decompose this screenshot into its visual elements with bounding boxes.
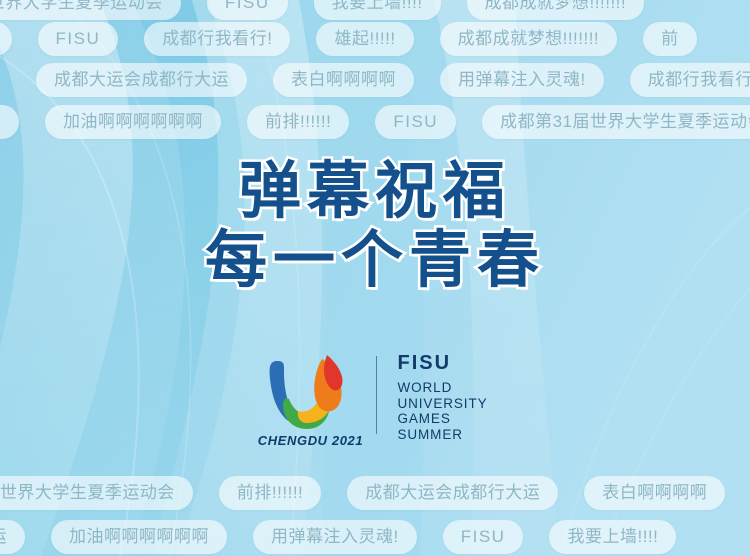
fisu-label: FISU (397, 352, 487, 376)
danmaku-pill[interactable]: 用弹幕注入灵魂! (253, 520, 417, 554)
danmaku-pill[interactable]: 成都行我看行! (144, 22, 290, 56)
danmaku-pill[interactable]: 我要上墙!!!! (549, 520, 676, 554)
fisu-line-games: GAMES (397, 411, 487, 427)
danmaku-pill[interactable]: FISU (38, 22, 119, 56)
danmaku-pill[interactable]: FISU (375, 105, 456, 139)
page-title-line-2: 每一个青春 (0, 229, 750, 292)
danmaku-pill[interactable]: 前排!!!!!! (219, 476, 321, 510)
danmaku-pill[interactable]: 成都第31届世界大学生夏季运动会 (0, 476, 193, 510)
danmaku-row: 成都第31届世界大学生夏季运动会FISU我要上墙!!!!成都成就梦想!!!!!!… (0, 0, 670, 20)
danmaku-row: 大运加油啊啊啊啊啊啊前排!!!!!!FISU成都第31届世界大学生夏季运动会 (0, 105, 750, 139)
fisu-line-world: WORLD (397, 380, 487, 396)
page-title: 弹幕祝福 每一个青春 (0, 160, 750, 292)
danmaku-pill[interactable]: 加油啊啊啊啊啊啊 (51, 520, 227, 554)
danmaku-pill[interactable]: FISU (207, 0, 288, 20)
page-title-line-1: 弹幕祝福 (239, 157, 511, 226)
fisu-line-summer: SUMMER (397, 427, 487, 443)
danmaku-bottom-layer: 成都第31届世界大学生夏季运动会前排!!!!!!成都大运会成都行大运表白啊啊啊啊… (0, 476, 750, 556)
fisu-wordmark: FISU WORLD UNIVERSITY GAMES SUMMER (397, 352, 487, 449)
danmaku-pill[interactable]: 成都大运会成都行大运 (347, 476, 558, 510)
danmaku-pill[interactable]: 表白啊啊啊啊 (273, 63, 414, 97)
event-logo: CHENGDU 2021 FISU WORLD UNIVERSITY GAMES… (0, 352, 750, 449)
danmaku-pill[interactable]: 成都大运会成都行大运 (36, 63, 247, 97)
danmaku-pill[interactable]: 成都第31届世界大学生夏季运动会 (482, 105, 750, 139)
danmaku-pill[interactable]: 成都第31届世界大学生夏季运动会 (0, 0, 181, 20)
danmaku-pill[interactable]: 雄起!!!!! (316, 22, 413, 56)
danmaku-row: 成都大运会成都行大运表白啊啊啊啊用弹幕注入灵魂!成都行我看行! (36, 63, 750, 97)
danmaku-pill[interactable]: 成都成就梦想!!!!!!! (467, 0, 645, 20)
danmaku-pill[interactable]: 加油啊啊啊啊啊啊 (45, 105, 221, 139)
danmaku-row: 夏季运动会FISU成都行我看行!雄起!!!!!成都成就梦想!!!!!!!前 (0, 22, 723, 56)
danmaku-wall-screen: 成都第31届世界大学生夏季运动会FISU我要上墙!!!!成都成就梦想!!!!!!… (0, 0, 750, 556)
logo-event-name: CHENGDU 2021 (258, 433, 363, 448)
danmaku-pill[interactable]: 大运 (0, 105, 19, 139)
danmaku-pill[interactable]: 前 (643, 22, 697, 56)
danmaku-pill[interactable]: 大运 (0, 520, 25, 554)
danmaku-row: 成都第31届世界大学生夏季运动会前排!!!!!!成都大运会成都行大运表白啊啊啊啊 (0, 476, 750, 510)
logo-divider (376, 356, 377, 434)
logo-mark: CHENGDU 2021 (262, 353, 358, 448)
danmaku-pill[interactable]: 成都行我看行! (630, 63, 750, 97)
danmaku-pill[interactable]: 表白啊啊啊啊 (584, 476, 725, 510)
danmaku-pill[interactable]: 夏季运动会 (0, 22, 12, 56)
danmaku-pill[interactable]: FISU (443, 520, 524, 554)
danmaku-pill[interactable]: 前排!!!!!! (247, 105, 349, 139)
fisu-line-university: UNIVERSITY (397, 396, 487, 412)
danmaku-row: 大运加油啊啊啊啊啊啊用弹幕注入灵魂!FISU我要上墙!!!! (0, 520, 702, 554)
fisu-u-flame-icon (267, 353, 353, 431)
danmaku-pill[interactable]: 成都成就梦想!!!!!!! (440, 22, 618, 56)
danmaku-pill[interactable]: 用弹幕注入灵魂! (440, 63, 604, 97)
danmaku-top-layer: 成都第31届世界大学生夏季运动会FISU我要上墙!!!!成都成就梦想!!!!!!… (0, 0, 750, 152)
danmaku-pill[interactable]: 我要上墙!!!! (314, 0, 441, 20)
